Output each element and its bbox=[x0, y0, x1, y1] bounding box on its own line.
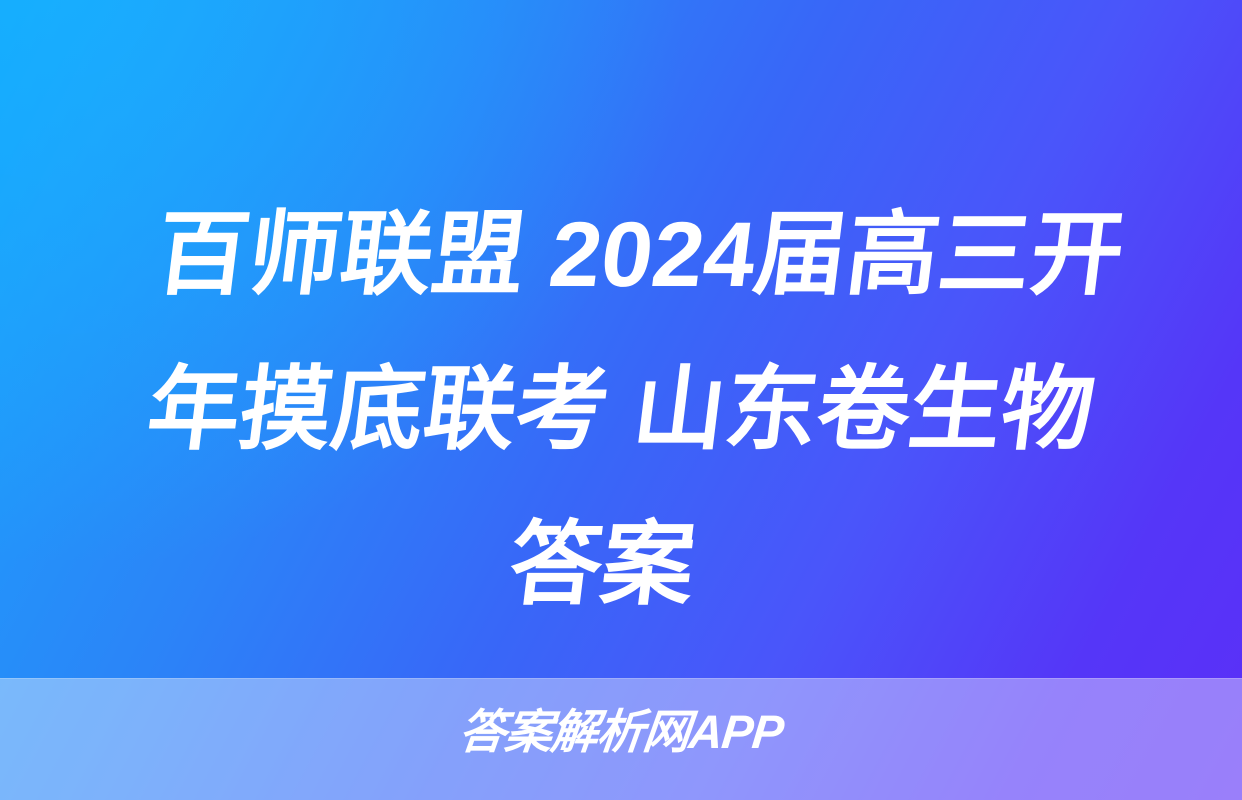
poster-canvas: 百师联盟 2024届高三开 年摸底联考 山东卷生物 答案 答案解析网APP bbox=[0, 0, 1242, 800]
title-line-2: 年摸底联考 山东卷生物 bbox=[0, 333, 1242, 488]
page-title: 百师联盟 2024届高三开 年摸底联考 山东卷生物 答案 bbox=[0, 178, 1242, 643]
app-watermark: 答案解析网APP bbox=[0, 702, 1242, 762]
footer-band-divider bbox=[0, 678, 1242, 679]
title-line-1: 百师联盟 2024届高三开 bbox=[10, 178, 1242, 333]
title-line-3: 答案 bbox=[0, 488, 1232, 643]
